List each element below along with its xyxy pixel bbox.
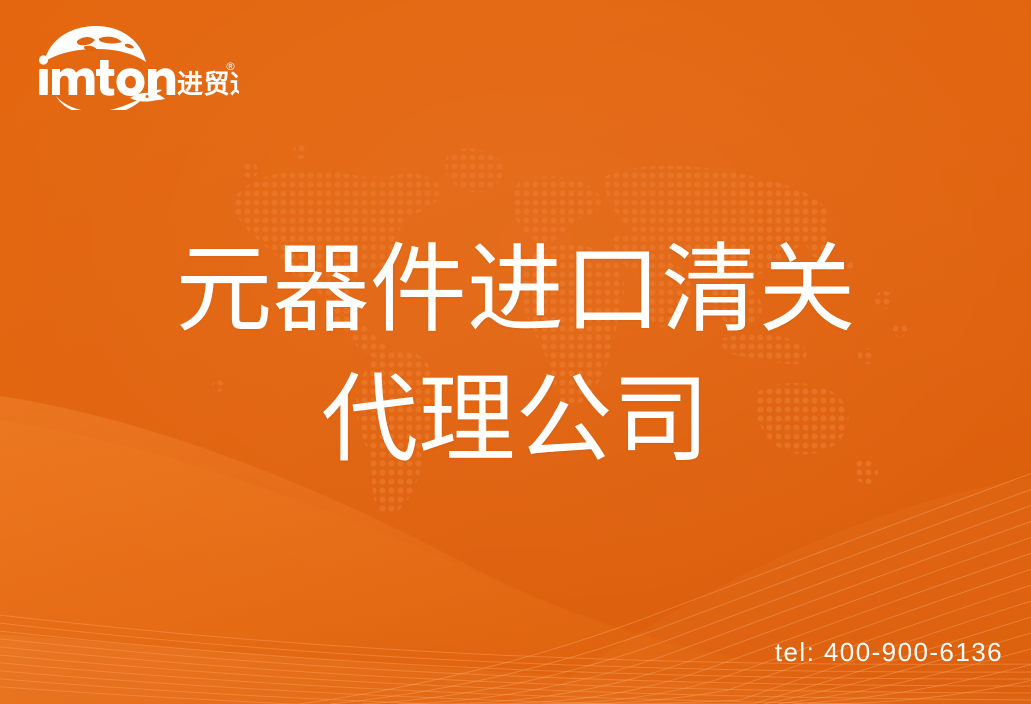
- promo-banner: 进贸通 ® 元器件进口清关 代理公司 tel: 400-900-6136: [0, 0, 1031, 704]
- logo-wordmark-shape: [39, 55, 175, 96]
- globe-icon: [44, 26, 146, 62]
- company-logo[interactable]: 进贸通 ®: [34, 22, 239, 110]
- page-title: 元器件进口清关 代理公司: [0, 228, 1031, 482]
- registered-trademark-icon: ®: [225, 60, 236, 73]
- contact-phone[interactable]: tel: 400-900-6136: [775, 637, 1003, 668]
- headline-line-1: 元器件进口清关: [0, 228, 1031, 352]
- headline-line-2: 代理公司: [0, 358, 1031, 482]
- logo-artwork: 进贸通 ®: [34, 22, 239, 110]
- logo-chinese-text: 进贸通: [177, 70, 239, 100]
